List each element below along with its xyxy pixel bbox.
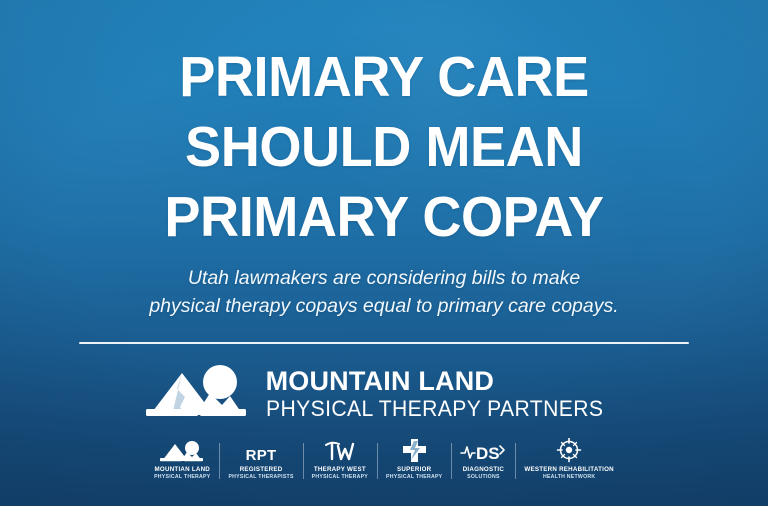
horizontal-rule — [79, 342, 689, 344]
mountain-land-logo: MOUNTAIN LAND PHYSICAL THERAPY PARTNERS — [144, 363, 625, 424]
partner-name-line-2: SOLUTIONS — [467, 474, 500, 481]
partner-name-line-2: PHYSICAL THERAPY — [386, 474, 442, 481]
tw-monogram-icon — [320, 438, 360, 463]
partner-name-line-1: WESTERN REHABILITATION — [524, 466, 613, 474]
partner-diagnostic-solutions: DS DIAGNOSTIC SOLUTIONS — [451, 438, 515, 480]
partner-logo-strip: MOUNTIAN LAND PHYSICAL THERAPY RPT REGIS… — [145, 438, 623, 480]
headline-line-2: SHOULD MEAN — [80, 112, 688, 182]
partner-name-line-1: THERAPY WEST — [314, 466, 366, 474]
partner-name-line-1: REGISTERED — [240, 466, 283, 474]
partner-name-line-1: DIAGNOSTIC — [463, 466, 504, 474]
logo-tagline: PHYSICAL THERAPY PARTNERS — [266, 396, 603, 421]
partner-superior: SUPERIOR PHYSICAL THERAPY — [377, 438, 451, 480]
subheading: Utah lawmakers are considering bills to … — [84, 264, 684, 320]
partner-name-line-2: PHYSICAL THERAPISTS — [228, 474, 293, 481]
partner-therapy-west: THERAPY WEST PHYSICAL THERAPY — [303, 438, 377, 480]
headline-line-3: PRIMARY COPAY — [80, 182, 688, 252]
partner-name-line-2: PHYSICAL THERAPY — [154, 474, 210, 481]
logo-name: MOUNTAIN LAND — [266, 367, 625, 396]
promo-banner: PRIMARY CARE SHOULD MEAN PRIMARY COPAY U… — [0, 0, 768, 506]
mountain-land-wordmark: MOUNTAIN LAND PHYSICAL THERAPY PARTNERS — [266, 367, 625, 421]
compass-target-icon — [555, 438, 583, 463]
partner-name-line-1: SUPERIOR — [397, 466, 431, 474]
rpt-wordmark-text: RPT — [246, 448, 277, 463]
cross-star-icon — [400, 438, 428, 463]
subheading-line-2: physical therapy copays equal to primary… — [84, 292, 684, 320]
headline-line-1: PRIMARY CARE — [80, 42, 688, 112]
subheading-line-1: Utah lawmakers are considering bills to … — [84, 264, 684, 292]
mountain-sun-icon — [144, 363, 250, 424]
headline: PRIMARY CARE SHOULD MEAN PRIMARY COPAY — [80, 0, 688, 252]
partner-rpt: RPT REGISTERED PHYSICAL THERAPISTS — [219, 438, 302, 480]
partner-name-line-2: PHYSICAL THERAPY — [312, 474, 368, 481]
partner-name-line-1: MOUNTIAN LAND — [155, 466, 211, 474]
rpt-wordmark-icon: RPT — [246, 438, 277, 463]
ds-ekg-monogram-icon: DS — [460, 438, 506, 463]
partner-mountain-land: MOUNTIAN LAND PHYSICAL THERAPY — [145, 438, 219, 480]
partner-western-rehabilitation: WESTERN REHABILITATION HEALTH NETWORK — [515, 438, 622, 480]
svg-text:DS: DS — [476, 444, 500, 463]
banner-content: PRIMARY CARE SHOULD MEAN PRIMARY COPAY U… — [0, 0, 768, 506]
partner-name-line-2: HEALTH NETWORK — [543, 474, 595, 481]
mountain-sun-icon — [160, 438, 204, 463]
